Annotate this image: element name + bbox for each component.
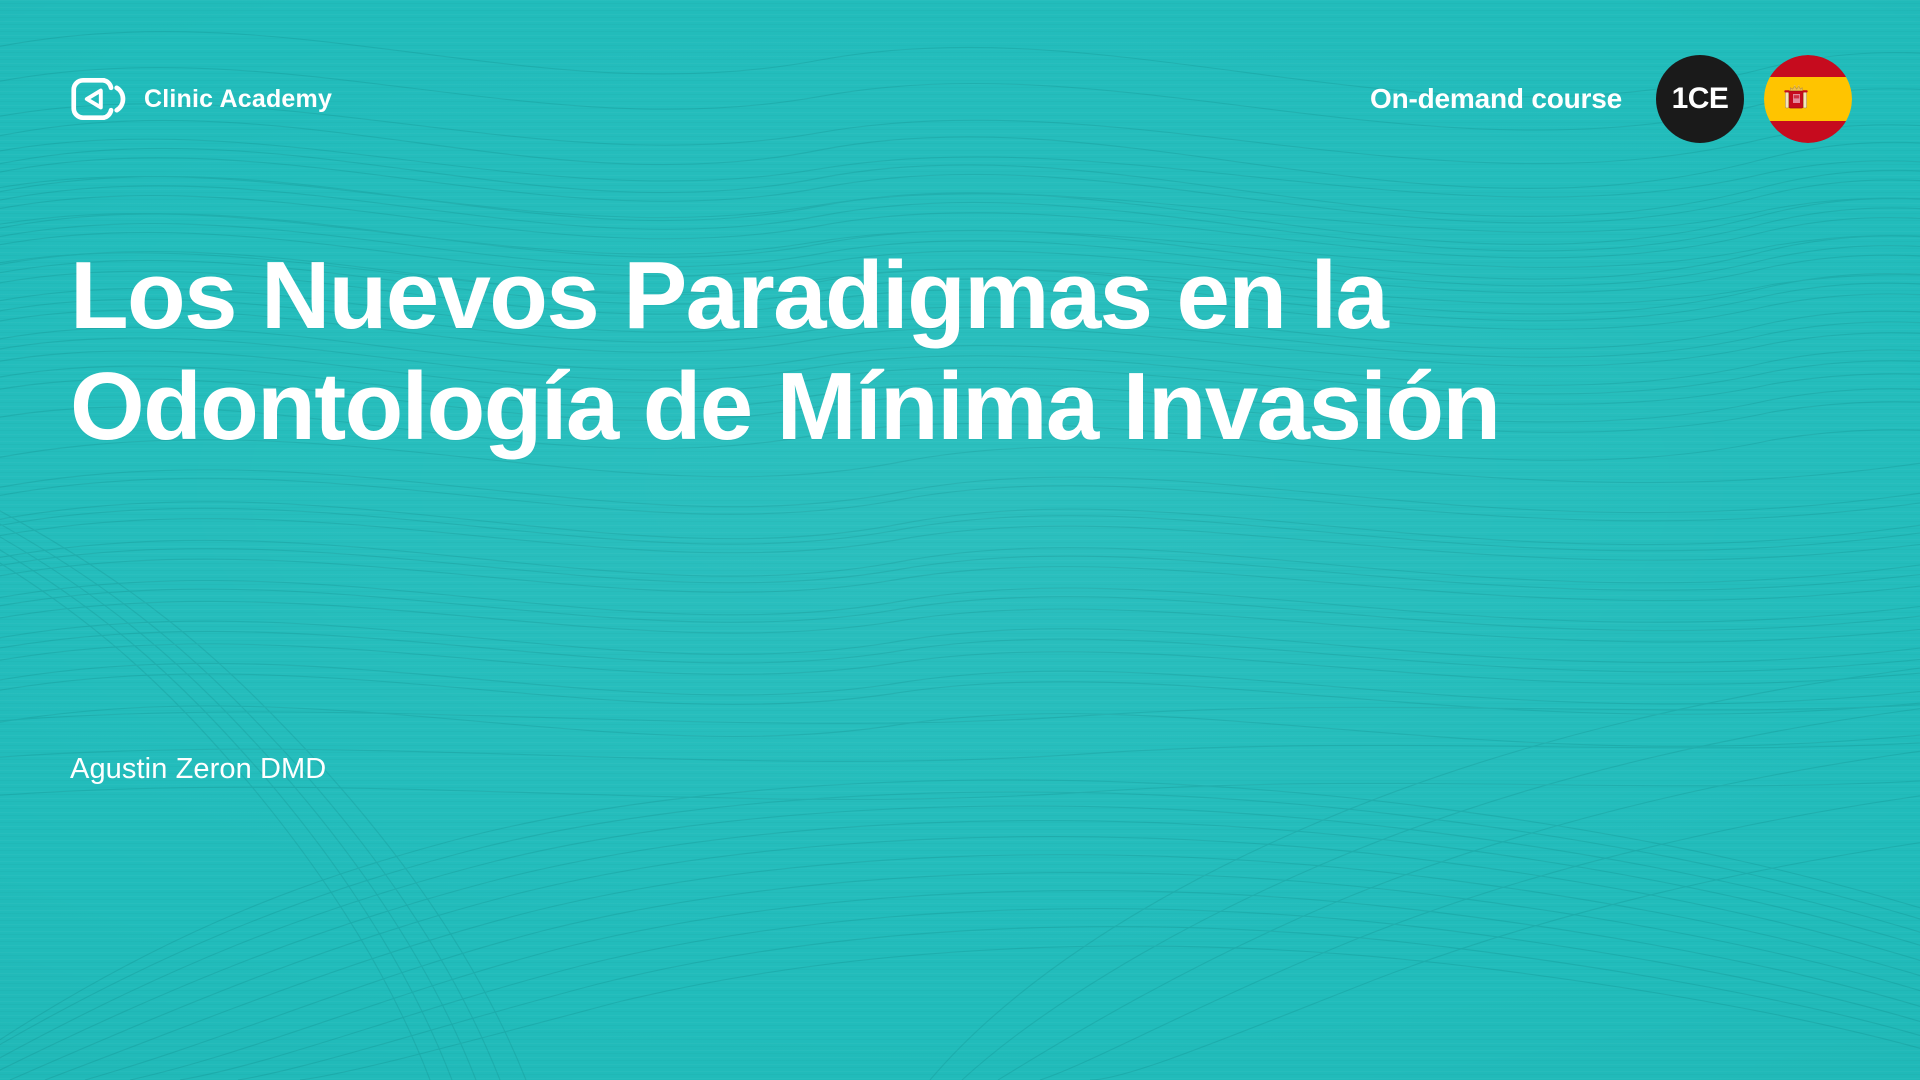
brand-lockup[interactable]: Clinic Academy [70,76,332,122]
ce-credits-badge[interactable]: 1CE [1656,55,1744,143]
course-title: Los Nuevos Paradigmas en la Odontología … [70,240,1750,463]
course-title-slide: Clinic Academy On-demand course 1CE [0,0,1920,1080]
ce-credits-label: 1CE [1672,82,1729,116]
title-block: Los Nuevos Paradigmas en la Odontología … [70,240,1790,463]
badge-group: 1CE [1656,55,1852,143]
header-right-cluster: On-demand course 1CE [1370,55,1852,143]
slide-header: Clinic Academy On-demand course 1CE [0,0,1920,198]
brand-name: Clinic Academy [144,85,332,114]
video-camera-play-icon [70,76,126,122]
presenter-name: Agustin Zeron DMD [70,753,326,786]
language-flag-badge-spain[interactable] [1764,55,1852,143]
course-kind-label: On-demand course [1370,83,1622,115]
spain-flag-icon [1764,55,1852,143]
